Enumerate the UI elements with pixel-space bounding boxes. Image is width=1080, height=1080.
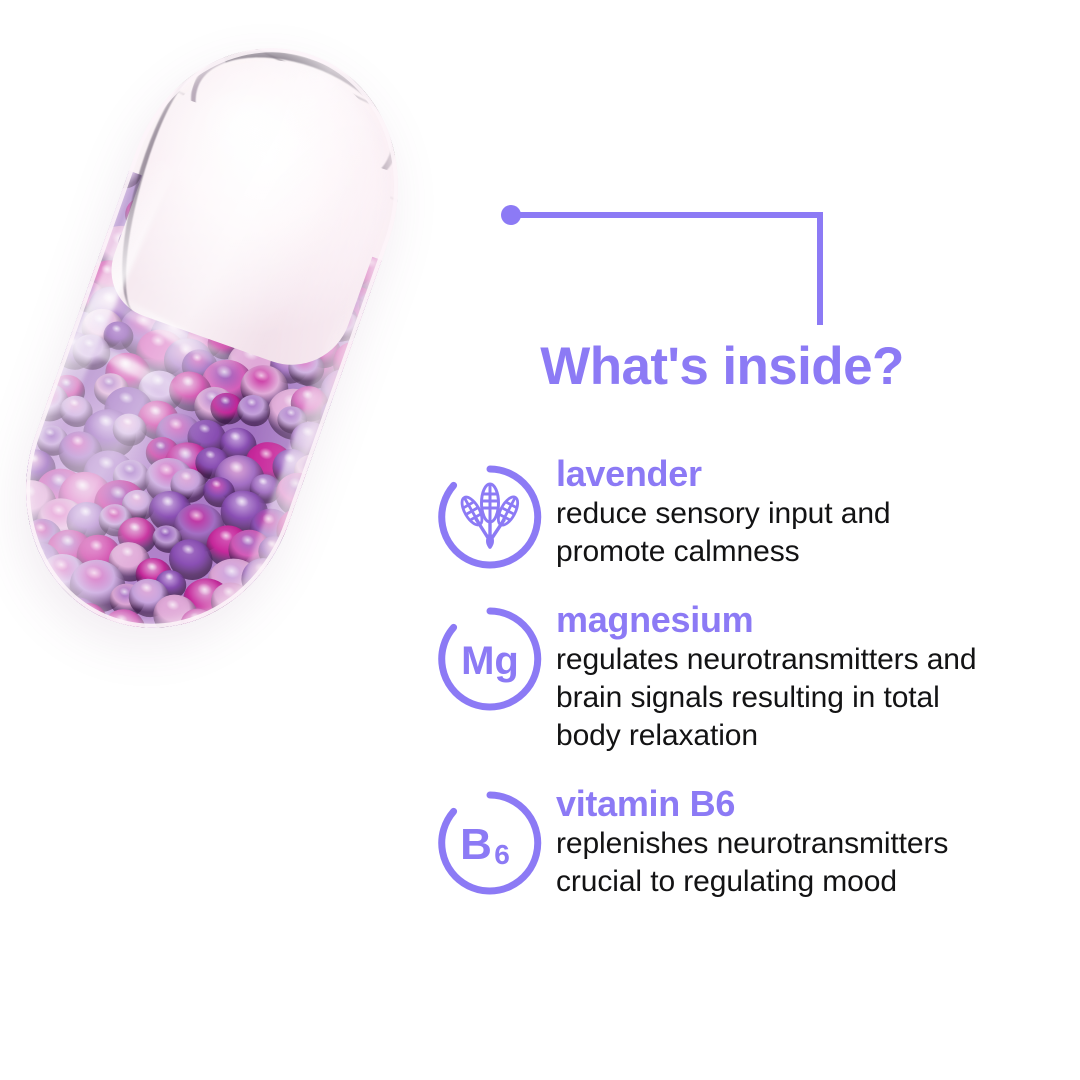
infographic-canvas: What's inside? [0, 0, 1080, 1080]
magnesium-symbol-icon: Mg [436, 605, 544, 713]
ingredient-name-lavender: lavender [556, 455, 1050, 494]
ingredient-description-magnesium: regulates neurotransmitters and brain si… [556, 641, 1050, 755]
text-cell-lavender: lavender reduce sensory input and promot… [550, 455, 1050, 571]
supplement-capsule [0, 10, 438, 665]
vitamin-b6-symbol-subscript: 6 [494, 839, 510, 870]
ingredient-list: lavender reduce sensory input and promot… [430, 455, 1050, 901]
vitamin-b6-symbol-icon: B 6 [436, 789, 544, 897]
ingredient-description-lavender: reduce sensory input and promote calmnes… [556, 495, 1050, 571]
vitamin-b6-symbol-letter: B [460, 820, 492, 869]
icon-cell-lavender [430, 455, 550, 571]
capsule-image-wrapper [78, 38, 408, 653]
icon-cell-magnesium: Mg [430, 601, 550, 713]
page-title: What's inside? [464, 340, 980, 393]
lavender-sprig-icon [436, 463, 544, 571]
ingredient-row-vitamin-b6: B 6 vitamin B6 replenishes neurotransmit… [430, 785, 1050, 901]
magnesium-symbol-label: Mg [461, 639, 519, 683]
ingredient-name-vitamin-b6: vitamin B6 [556, 785, 1050, 824]
ingredient-description-vitamin-b6: replenishes neurotransmitters crucial to… [556, 825, 1050, 901]
ingredient-row-lavender: lavender reduce sensory input and promot… [430, 455, 1050, 571]
ingredient-row-magnesium: Mg magnesium regulates neurotransmitters… [430, 601, 1050, 755]
text-cell-vitamin-b6: vitamin B6 replenishes neurotransmitters… [550, 785, 1050, 901]
granule [240, 625, 301, 665]
text-cell-magnesium: magnesium regulates neurotransmitters an… [550, 601, 1050, 755]
whats-inside-panel: What's inside? [430, 340, 1050, 901]
ingredient-name-magnesium: magnesium [556, 601, 1050, 640]
icon-cell-vitamin-b6: B 6 [430, 785, 550, 897]
callout-connector [498, 198, 838, 338]
